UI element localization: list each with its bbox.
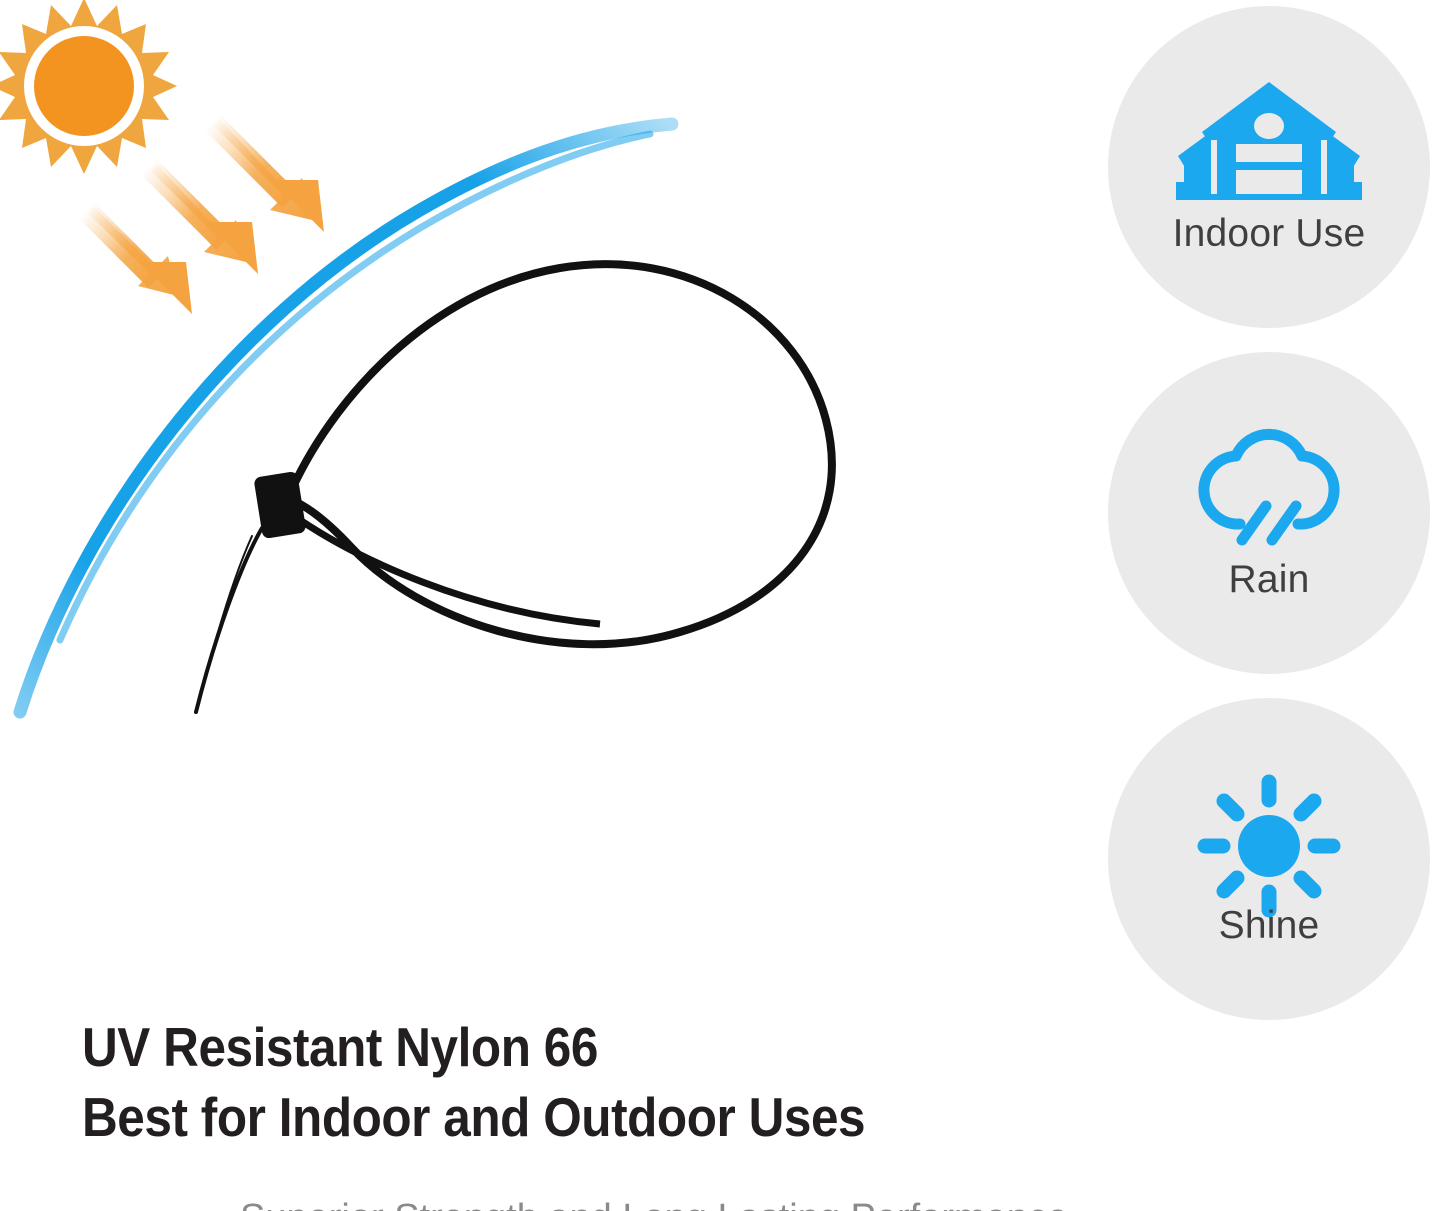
infographic-canvas: Indoor Use Rain bbox=[0, 0, 1432, 1211]
uv-ray-arrow-icon bbox=[86, 120, 324, 314]
headline-block: UV Resistant Nylon 66 Best for Indoor an… bbox=[82, 1012, 1082, 1152]
headline-line-2: Best for Indoor and Outdoor Uses bbox=[82, 1082, 982, 1152]
house-icon bbox=[1176, 82, 1362, 200]
badge-label-rain: Rain bbox=[1228, 560, 1309, 599]
rain-cloud-icon bbox=[1184, 428, 1354, 546]
badge-shine[interactable]: Shine bbox=[1108, 698, 1430, 1020]
badge-label-shine: Shine bbox=[1219, 906, 1320, 945]
sun-burst-icon bbox=[0, 0, 177, 174]
feature-badge-column: Indoor Use Rain bbox=[1108, 0, 1432, 1030]
cable-tie-icon bbox=[196, 264, 832, 712]
sun-icon bbox=[1194, 774, 1344, 892]
headline-line-1: UV Resistant Nylon 66 bbox=[82, 1012, 982, 1082]
badge-label-indoor-use: Indoor Use bbox=[1173, 214, 1366, 253]
bottom-caption-text: Superior Strength and Long Lasting Perfo… bbox=[240, 1196, 1140, 1211]
badge-indoor-use[interactable]: Indoor Use bbox=[1108, 6, 1430, 328]
badge-rain[interactable]: Rain bbox=[1108, 352, 1430, 674]
bottom-caption: Superior Strength and Long Lasting Perfo… bbox=[240, 1196, 1140, 1211]
uv-resistance-illustration bbox=[0, 0, 1080, 780]
